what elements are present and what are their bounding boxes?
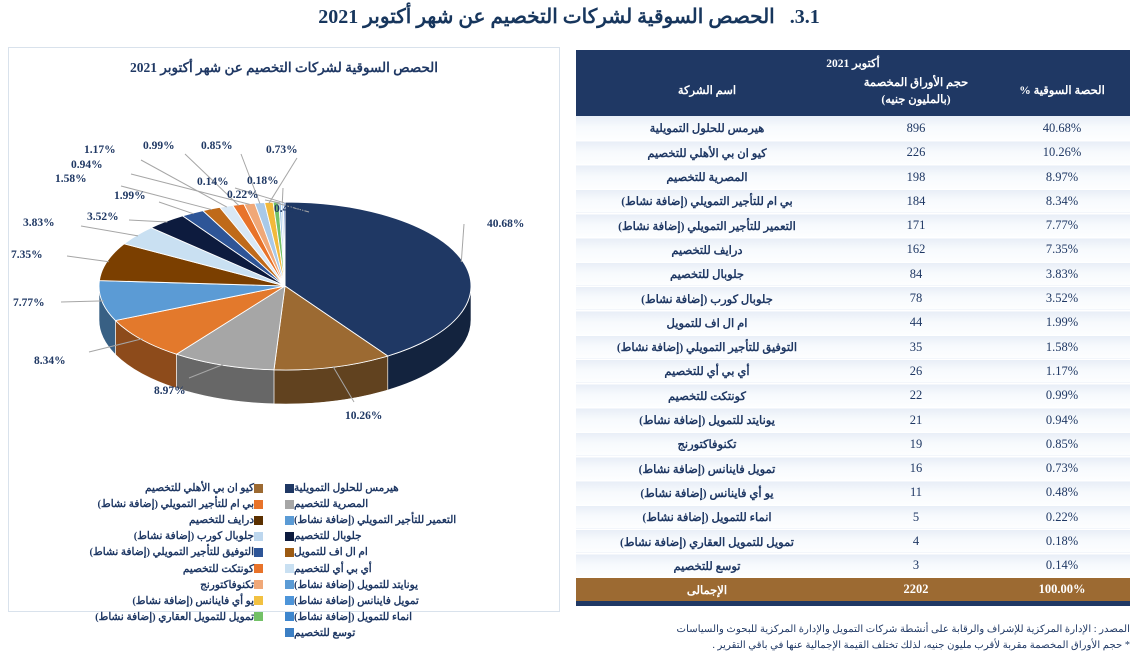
legend-color-swatch [285, 516, 294, 525]
pie-label-8: 1.99% [114, 190, 146, 202]
cell-share: 8.97% [994, 165, 1130, 189]
table-row: 7.77%171التعمير للتأجير التمويلي (إضافة … [576, 214, 1130, 238]
table-row: 8.34%184بي ام للتأجير التمويلي (إضافة نش… [576, 189, 1130, 213]
legend-column-right: كيو ان بي الأهلي للتخصيمبي ام للتأجير ال… [23, 480, 285, 641]
cell-volume: 198 [838, 165, 994, 189]
legend-item[interactable]: تكنوفاكتورنج [23, 577, 285, 593]
table-total-row: 100.00%2202الإجمالى [576, 578, 1130, 601]
table-row: 7.35%162درايف للتخصيم [576, 238, 1130, 262]
legend-item-label: ام ال اف للتمويل [294, 546, 368, 558]
legend-item[interactable]: درايف للتخصيم [23, 512, 285, 528]
cell-volume: 226 [838, 141, 994, 165]
table-row: 3.83%84جلوبال للتخصيم [576, 262, 1130, 286]
cell-company: تكنوفاكتورنج [576, 432, 838, 456]
legend-item-label: المصرية للتخصيم [294, 498, 368, 510]
legend-item-label: تمويل فاينانس (إضافة نشاط) [294, 595, 419, 607]
pie-leader-line [81, 226, 138, 236]
table-header-date: أكتوبر 2021 [576, 50, 1130, 72]
cell-volume: 162 [838, 238, 994, 262]
legend-color-swatch [254, 516, 263, 525]
cell-volume: 16 [838, 457, 994, 481]
pie-leader-line [61, 301, 104, 302]
legend-item[interactable]: أي بي أي للتخصيم [285, 560, 547, 576]
cell-share: 0.94% [994, 408, 1130, 432]
cell-volume: 84 [838, 262, 994, 286]
cell-volume: 78 [838, 286, 994, 310]
cell-volume: 5 [838, 505, 994, 529]
market-share-table: أكتوبر 2021 الحصة السوقية % حجم الأوراق … [576, 50, 1130, 601]
legend-item-label: جلوبال للتخصيم [294, 530, 362, 542]
table-header-volume-line2: (بالمليون جنيه) [844, 92, 988, 109]
legend-item[interactable]: التعمير للتأجير التمويلي (إضافة نشاط) [285, 512, 547, 528]
cell-company: التعمير للتأجير التمويلي (إضافة نشاط) [576, 214, 838, 238]
chart-legend: كيو ان بي الأهلي للتخصيمبي ام للتأجير ال… [23, 480, 547, 641]
cell-company: يو أي فاينانس (إضافة نشاط) [576, 481, 838, 505]
cell-volume: 4 [838, 529, 994, 553]
pie-leader-line [461, 224, 464, 262]
pie-label-14: 0.73% [266, 144, 298, 156]
cell-share: 1.58% [994, 335, 1130, 359]
table-bottom-bar [576, 601, 1130, 606]
legend-item-label: تمويل للتمويل العقاري (إضافة نشاط) [95, 611, 254, 623]
cell-share: 0.22% [994, 505, 1130, 529]
legend-item-label: هيرمس للحلول التمويلية [294, 482, 399, 494]
pie-leader-line [67, 256, 109, 262]
section-number: 3.1 [795, 6, 820, 28]
pie-label-11: 0.99% [143, 140, 175, 152]
legend-color-swatch [254, 548, 263, 557]
pie-chart: 40.68% 10.26% 8.97% 8.34% 7.77% 7.35% 3.… [9, 90, 561, 440]
legend-item[interactable]: بي ام للتأجير التمويلي (إضافة نشاط) [23, 496, 285, 512]
legend-item[interactable]: التوفيق للتأجير التمويلي (إضافة نشاط) [23, 544, 285, 560]
pie-leader-line [282, 188, 283, 203]
cell-volume: 11 [838, 481, 994, 505]
chart-panel: الحصص السوقية لشركات التخصيم عن شهر أكتو… [8, 47, 560, 612]
table-rounding-note: * حجم الأوراق المخصمة مقربة لأقرب مليون … [576, 638, 1130, 654]
legend-item-label: التعمير للتأجير التمويلي (إضافة نشاط) [294, 514, 456, 526]
legend-color-swatch [285, 564, 294, 573]
pie-label-13: 0.85% [201, 140, 233, 152]
cell-company: بي ام للتأجير التمويلي (إضافة نشاط) [576, 189, 838, 213]
legend-item[interactable]: يو أي فاينانس (إضافة نشاط) [23, 593, 285, 609]
legend-item-label: بي ام للتأجير التمويلي (إضافة نشاط) [97, 498, 254, 510]
cell-share: 0.18% [994, 529, 1130, 553]
cell-volume: 3 [838, 554, 994, 578]
cell-volume: 896 [838, 116, 994, 140]
legend-color-swatch [254, 532, 263, 541]
legend-item[interactable]: كيو ان بي الأهلي للتخصيم [23, 480, 285, 496]
table-row: 8.97%198المصرية للتخصيم [576, 165, 1130, 189]
table-row: 1.58%35التوفيق للتأجير التمويلي (إضافة ن… [576, 335, 1130, 359]
legend-item[interactable]: انماء للتمويل (إضافة نشاط) [285, 609, 547, 625]
legend-color-swatch [254, 500, 263, 509]
legend-color-swatch [285, 500, 294, 509]
table-header: أكتوبر 2021 الحصة السوقية % حجم الأوراق … [576, 50, 1130, 116]
cell-share: 0.14% [994, 554, 1130, 578]
table-row: 10.26%226كيو ان بي الأهلي للتخصيم [576, 141, 1130, 165]
cell-volume: 184 [838, 189, 994, 213]
pie-label-9: 1.58% [55, 173, 87, 185]
legend-color-swatch [285, 596, 294, 605]
cell-share: 3.52% [994, 286, 1130, 310]
legend-item-label: يو أي فاينانس (إضافة نشاط) [132, 595, 254, 607]
table-header-date-row: أكتوبر 2021 [576, 50, 1130, 72]
table-row: 0.48%11يو أي فاينانس (إضافة نشاط) [576, 481, 1130, 505]
legend-item[interactable]: توسع للتخصيم [285, 625, 547, 641]
cell-volume: 21 [838, 408, 994, 432]
cell-company: أي بي أي للتخصيم [576, 359, 838, 383]
market-share-table-panel: أكتوبر 2021 الحصة السوقية % حجم الأوراق … [576, 50, 1130, 606]
pie-label-0: 40.68% [487, 218, 524, 230]
pie-label-15: 0.48% [274, 203, 306, 215]
total-label: الإجمالى [576, 578, 838, 601]
table-header-volume-line1: حجم الأوراق المخصمة [864, 77, 968, 89]
cell-company: جلوبال كورب (إضافة نشاط) [576, 286, 838, 310]
pie-label-7: 3.52% [87, 211, 119, 223]
legend-item-label: جلوبال كورب (إضافة نشاط) [134, 530, 254, 542]
cell-volume: 44 [838, 311, 994, 335]
pie-label-3: 8.34% [34, 355, 66, 367]
pie-label-1: 10.26% [345, 410, 382, 422]
cell-company: جلوبال للتخصيم [576, 262, 838, 286]
cell-share: 8.34% [994, 189, 1130, 213]
table-row: 1.99%44ام ال اف للتمويل [576, 311, 1130, 335]
cell-volume: 35 [838, 335, 994, 359]
table-row: 3.52%78جلوبال كورب (إضافة نشاط) [576, 286, 1130, 310]
cell-volume: 26 [838, 359, 994, 383]
legend-item-label: التوفيق للتأجير التمويلي (إضافة نشاط) [90, 546, 254, 558]
legend-color-swatch [254, 564, 263, 573]
legend-item[interactable]: كونتكت للتخصيم [23, 560, 285, 576]
pie-label-4: 7.77% [13, 297, 45, 309]
cell-share: 0.73% [994, 457, 1130, 481]
cell-company: تمويل للتمويل العقاري (إضافة نشاط) [576, 529, 838, 553]
cell-company: كيو ان بي الأهلي للتخصيم [576, 141, 838, 165]
pie-label-12: 0.94% [71, 159, 103, 171]
legend-item-label: تكنوفاكتورنج [200, 579, 254, 591]
cell-share: 1.99% [994, 311, 1130, 335]
table-row: 0.85%19تكنوفاكتورنج [576, 432, 1130, 456]
cell-share: 0.99% [994, 384, 1130, 408]
legend-color-swatch [254, 596, 263, 605]
legend-item[interactable]: تمويل للتمويل العقاري (إضافة نشاط) [23, 609, 285, 625]
pie-label-10: 1.17% [84, 144, 116, 156]
pie-label-5: 7.35% [11, 249, 43, 261]
table-row: 0.22%5انماء للتمويل (إضافة نشاط) [576, 505, 1130, 529]
pie-leader-line [129, 220, 167, 222]
cell-company: يونايتد للتمويل (إضافة نشاط) [576, 408, 838, 432]
cell-volume: 171 [838, 214, 994, 238]
cell-share: 7.35% [994, 238, 1130, 262]
legend-item-label: يونايتد للتمويل (إضافة نشاط) [294, 579, 418, 591]
legend-color-swatch [254, 484, 263, 493]
pie-chart-svg [9, 90, 561, 440]
cell-company: هيرمس للحلول التمويلية [576, 116, 838, 140]
legend-item-label: كيو ان بي الأهلي للتخصيم [145, 482, 254, 494]
table-row: 0.14%3توسع للتخصيم [576, 554, 1130, 578]
legend-item[interactable]: جلوبال كورب (إضافة نشاط) [23, 528, 285, 544]
total-volume: 2202 [838, 578, 994, 601]
table-header-volume: حجم الأوراق المخصمة (بالمليون جنيه) [838, 72, 994, 116]
table-row: 0.18%4تمويل للتمويل العقاري (إضافة نشاط) [576, 529, 1130, 553]
cell-share: 1.17% [994, 359, 1130, 383]
legend-item[interactable]: يونايتد للتمويل (إضافة نشاط) [285, 577, 547, 593]
legend-color-swatch [285, 580, 294, 589]
table-header-share: الحصة السوقية % [994, 72, 1130, 116]
legend-item-label: توسع للتخصيم [294, 627, 355, 639]
table-row: 40.68%896هيرمس للحلول التمويلية [576, 116, 1130, 140]
legend-item-label: كونتكت للتخصيم [183, 563, 254, 575]
cell-company: التوفيق للتأجير التمويلي (إضافة نشاط) [576, 335, 838, 359]
pie-label-2: 8.97% [154, 385, 186, 397]
legend-color-swatch [285, 484, 294, 493]
table-footnotes: المصدر : الإدارة المركزية للإشراف والرقا… [576, 622, 1130, 654]
cell-share: 0.85% [994, 432, 1130, 456]
cell-share: 7.77% [994, 214, 1130, 238]
table-header-company: اسم الشركة [576, 72, 838, 116]
cell-company: تمويل فاينانس (إضافة نشاط) [576, 457, 838, 481]
cell-company: انماء للتمويل (إضافة نشاط) [576, 505, 838, 529]
legend-color-swatch [254, 580, 263, 589]
chart-title: الحصص السوقية لشركات التخصيم عن شهر أكتو… [9, 60, 559, 76]
legend-item-label: درايف للتخصيم [189, 514, 254, 526]
legend-color-swatch [285, 612, 294, 621]
cell-volume: 22 [838, 384, 994, 408]
legend-item[interactable]: جلوبال للتخصيم [285, 528, 547, 544]
cell-company: كونتكت للتخصيم [576, 384, 838, 408]
legend-item-label: أي بي أي للتخصيم [294, 563, 372, 575]
cell-share: 0.48% [994, 481, 1130, 505]
legend-color-swatch [285, 628, 294, 637]
table-source-note: المصدر : الإدارة المركزية للإشراف والرقا… [576, 622, 1130, 638]
total-share: 100.00% [994, 578, 1130, 601]
legend-column-left: هيرمس للحلول التمويليةالمصرية للتخصيمالت… [285, 480, 547, 641]
table-row: 0.94%21يونايتد للتمويل (إضافة نشاط) [576, 408, 1130, 432]
legend-color-swatch [285, 532, 294, 541]
pie-label-17: 0.18% [247, 175, 279, 187]
legend-item-label: انماء للتمويل (إضافة نشاط) [294, 611, 412, 623]
cell-volume: 19 [838, 432, 994, 456]
report-page: 3.1. الحصص السوقية لشركات التخصيم عن شهر… [0, 0, 1138, 667]
page-title-text: الحصص السوقية لشركات التخصيم عن شهر أكتو… [318, 6, 774, 28]
legend-item[interactable]: هيرمس للحلول التمويلية [285, 480, 547, 496]
page-title: 3.1. الحصص السوقية لشركات التخصيم عن شهر… [0, 4, 1138, 29]
pie-label-16: 0.22% [227, 189, 259, 201]
legend-color-swatch [254, 612, 263, 621]
table-row: 1.17%26أي بي أي للتخصيم [576, 359, 1130, 383]
cell-company: توسع للتخصيم [576, 554, 838, 578]
pie-top-face [99, 202, 471, 370]
pie-label-18: 0.14% [197, 176, 229, 188]
table-row: 0.99%22كونتكت للتخصيم [576, 384, 1130, 408]
legend-item[interactable]: المصرية للتخصيم [285, 496, 547, 512]
legend-item[interactable]: تمويل فاينانس (إضافة نشاط) [285, 593, 547, 609]
cell-company: درايف للتخصيم [576, 238, 838, 262]
cell-share: 10.26% [994, 141, 1130, 165]
legend-item[interactable]: ام ال اف للتمويل [285, 544, 547, 560]
cell-share: 3.83% [994, 262, 1130, 286]
cell-company: المصرية للتخصيم [576, 165, 838, 189]
cell-share: 40.68% [994, 116, 1130, 140]
cell-company: ام ال اف للتمويل [576, 311, 838, 335]
pie-label-6: 3.83% [23, 217, 55, 229]
table-header-cols-row: الحصة السوقية % حجم الأوراق المخصمة (بال… [576, 72, 1130, 116]
legend-color-swatch [285, 548, 294, 557]
table-body: 40.68%896هيرمس للحلول التمويلية10.26%226… [576, 116, 1130, 601]
table-row: 0.73%16تمويل فاينانس (إضافة نشاط) [576, 457, 1130, 481]
